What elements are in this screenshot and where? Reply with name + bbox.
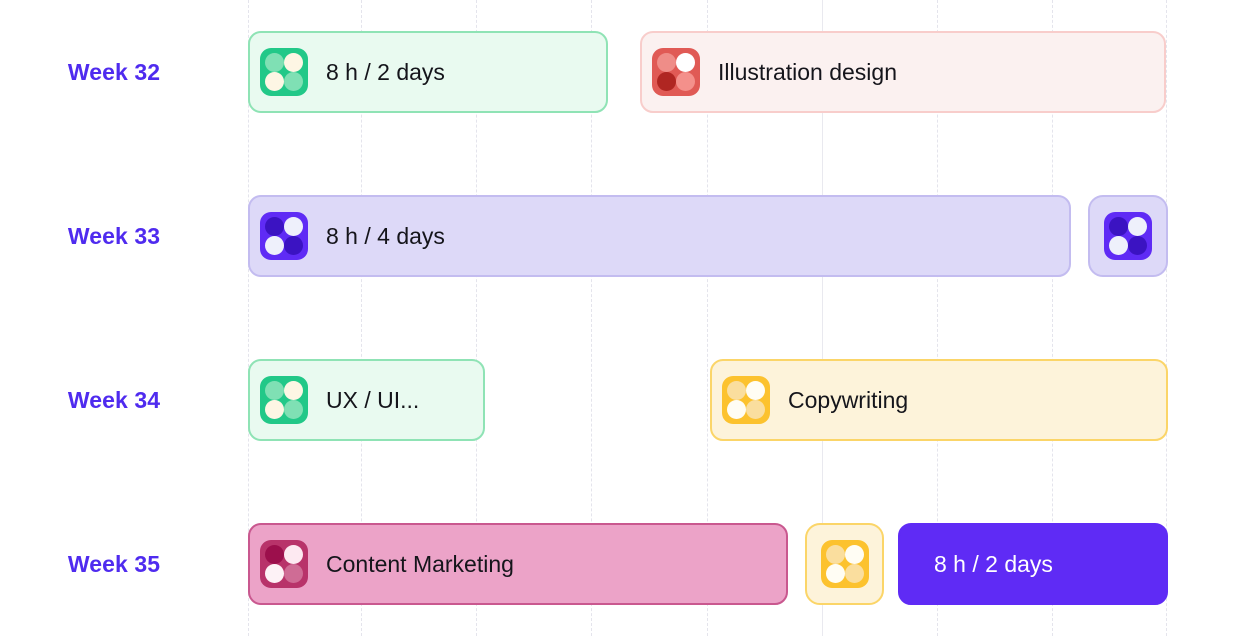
- dot-d4: [676, 72, 695, 91]
- dot-d1: [727, 381, 746, 400]
- timeline-row: Week 34UX / UI...Copywriting: [0, 359, 1240, 441]
- task-label: Illustration design: [718, 61, 897, 84]
- dot-d3: [1109, 236, 1128, 255]
- dot-d2: [284, 545, 303, 564]
- dot-d3: [657, 72, 676, 91]
- week-label: Week 34: [0, 359, 228, 441]
- task-bar-week33-hours[interactable]: 8 h / 4 days: [248, 195, 1071, 277]
- four-dots-icon: [260, 48, 308, 96]
- dot-d1: [657, 53, 676, 72]
- dot-d1: [265, 217, 284, 236]
- dot-d2: [845, 545, 864, 564]
- dot-d3: [265, 72, 284, 91]
- week-label: Week 33: [0, 195, 228, 277]
- dot-d2: [284, 53, 303, 72]
- four-dots-icon: [260, 376, 308, 424]
- dot-d1: [265, 53, 284, 72]
- task-bar-week32-hours[interactable]: 8 h / 2 days: [248, 31, 608, 113]
- dot-d4: [1128, 236, 1147, 255]
- task-bar-week35-hours[interactable]: 8 h / 2 days: [898, 523, 1168, 605]
- task-label: Copywriting: [788, 389, 908, 412]
- dot-d3: [265, 564, 284, 583]
- task-label: 8 h / 2 days: [934, 553, 1053, 576]
- task-bar-week32-illustration-design[interactable]: Illustration design: [640, 31, 1166, 113]
- dot-d2: [746, 381, 765, 400]
- dot-d4: [284, 236, 303, 255]
- dot-d4: [746, 400, 765, 419]
- four-dots-icon: [260, 212, 308, 260]
- dot-d3: [826, 564, 845, 583]
- task-label: UX / UI...: [326, 389, 419, 412]
- dot-d4: [284, 400, 303, 419]
- dot-d1: [1109, 217, 1128, 236]
- week-label: Week 32: [0, 31, 228, 113]
- week-label: Week 35: [0, 523, 228, 605]
- task-label: Content Marketing: [326, 553, 514, 576]
- four-dots-icon: [652, 48, 700, 96]
- timeline-row: Week 338 h / 4 days: [0, 195, 1240, 277]
- dot-d2: [284, 217, 303, 236]
- dot-d4: [284, 72, 303, 91]
- four-dots-icon: [260, 540, 308, 588]
- task-bar-week35-content-marketing[interactable]: Content Marketing: [248, 523, 788, 605]
- dot-d1: [826, 545, 845, 564]
- task-label: 8 h / 4 days: [326, 225, 445, 248]
- four-dots-icon: [1104, 212, 1152, 260]
- dot-d1: [265, 545, 284, 564]
- task-bar-week34-ux-ui[interactable]: UX / UI...: [248, 359, 485, 441]
- task-label: 8 h / 2 days: [326, 61, 445, 84]
- dot-d3: [727, 400, 746, 419]
- dot-d2: [1128, 217, 1147, 236]
- dot-d3: [265, 400, 284, 419]
- timeline-row: Week 35Content Marketing8 h / 2 days: [0, 523, 1240, 605]
- dot-d2: [284, 381, 303, 400]
- dot-d4: [845, 564, 864, 583]
- dot-d1: [265, 381, 284, 400]
- four-dots-icon: [722, 376, 770, 424]
- four-dots-icon: [821, 540, 869, 588]
- timeline-row: Week 328 h / 2 daysIllustration design: [0, 31, 1240, 113]
- dot-d2: [676, 53, 695, 72]
- task-chip-week33[interactable]: [1088, 195, 1168, 277]
- gantt-timeline: Week 328 h / 2 daysIllustration designWe…: [0, 0, 1240, 636]
- dot-d4: [284, 564, 303, 583]
- task-chip-week35[interactable]: [805, 523, 884, 605]
- dot-d3: [265, 236, 284, 255]
- task-bar-week34-copywriting[interactable]: Copywriting: [710, 359, 1168, 441]
